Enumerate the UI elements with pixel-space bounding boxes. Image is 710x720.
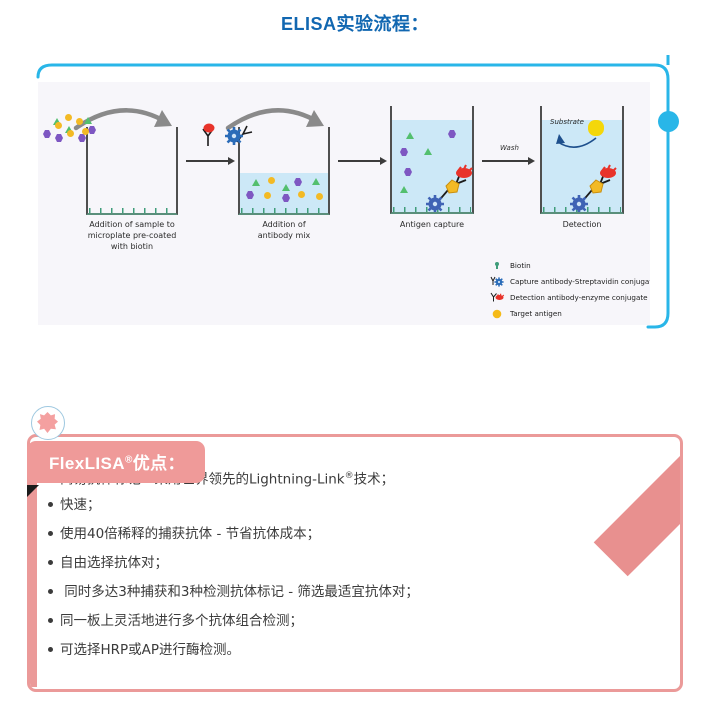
capture-antibody-streptavidin-icon [490, 276, 505, 289]
legend-item-target-antigen: Target antigen [486, 306, 650, 322]
page-title: ELISA实验流程： [0, 10, 710, 36]
bullet-dot-icon [48, 560, 53, 565]
list-item: 同时多达3种捕获和3种检测抗体标记 - 筛选最适宜抗体对； [48, 578, 648, 607]
step-1-line-1: Addition of sample to [66, 220, 198, 231]
bullet-text-pre: 自由选择抗体对； [60, 555, 168, 571]
corner-stripe-decoration-2 [680, 434, 683, 583]
bullet-dot-icon [48, 531, 53, 536]
bullet-text-pre: 可选择HRP或AP进行酶检测。 [60, 642, 240, 658]
bullet-dot-icon [48, 647, 53, 652]
well-label-step-2: Addition of antibody mix [228, 220, 340, 242]
flexlisa-benefits-tag: FlexLISA®优点： [27, 441, 205, 483]
tag-tail-shadow [27, 485, 39, 497]
left-accent-bar [30, 465, 37, 687]
bullet-text-pre: 快速； [60, 497, 101, 513]
biotin-icon [490, 260, 505, 273]
legend-label: Target antigen [510, 306, 562, 322]
list-item: 可选择HRP或AP进行酶检测。 [48, 636, 648, 665]
target-antigen-icon [490, 308, 505, 321]
well-label-step-3: Antigen capture [382, 220, 482, 231]
bullet-text-pre: 使用40倍稀释的捕获抗体 - 节省抗体成本； [60, 526, 320, 542]
arrow-1-2-head-icon [228, 157, 235, 165]
flower-blob-icon [37, 412, 58, 433]
well-step-4: Substrate [540, 106, 624, 214]
legend-item-detection-antibody: Detection antibody-enzyme conjugate [486, 290, 650, 306]
well-step-3 [390, 106, 474, 214]
well-step-1 [86, 127, 178, 215]
detection-antibody-enzyme-icon [490, 292, 505, 305]
arrow-2-3-head-icon [380, 157, 387, 165]
elisa-workflow-diagram: Addition of sample to microplate pre-coa… [38, 82, 650, 325]
antibody-sandwich-complex-icon [566, 160, 620, 212]
step-2-line-2: antibody mix [228, 231, 340, 242]
step-3-line-1: Antigen capture [382, 220, 482, 231]
list-item: 自由选择抗体对； [48, 549, 648, 578]
well-label-step-4: Detection [532, 220, 632, 231]
wash-label: Wash [500, 144, 519, 152]
biotin-coating [89, 208, 175, 213]
tag-registered-mark: ® [125, 454, 133, 465]
legend-label: Detection antibody-enzyme conjugate [510, 290, 648, 306]
step-4-line-1: Detection [532, 220, 632, 231]
bullet-superscript: ® [345, 471, 354, 481]
legend-label: Capture antibody-Streptavidin conjugate [510, 274, 650, 290]
list-item: 同一板上灵活地进行多个抗体组合检测； [48, 607, 648, 636]
list-item: 使用40倍稀释的捕获抗体 - 节省抗体成本； [48, 520, 648, 549]
step-2-line-1: Addition of [228, 220, 340, 231]
bullet-text-pre: 同一板上灵活地进行多个抗体组合检测； [60, 613, 303, 629]
arrow-3-4 [482, 160, 530, 162]
benefits-bullet-list: 简易抗体标记 - 采用世界领先的Lightning-Link®技术； 快速； 使… [48, 462, 648, 665]
tag-text-pre: FlexLISA [49, 454, 125, 473]
flower-badge [31, 406, 65, 440]
substrate-dot-icon [588, 120, 604, 136]
arrow-2-3 [338, 160, 382, 162]
bullet-text-pre: 同时多达3种捕获和3种检测抗体标记 - 筛选最适宜抗体对； [60, 584, 419, 600]
diagram-legend: Biotin Capture antibody-Streptavidin con… [486, 258, 650, 322]
list-item: 快速； [48, 491, 648, 520]
bullet-dot-icon [48, 618, 53, 623]
tag-text-post: 优点： [133, 454, 185, 473]
legend-label: Biotin [510, 258, 531, 274]
step-1-line-3: with biotin [66, 242, 198, 253]
arrow-3-4-head-icon [528, 157, 535, 165]
antibody-pair-icon [200, 120, 262, 154]
bullet-dot-icon [48, 589, 53, 594]
step-1-line-2: microplate pre-coated [66, 231, 198, 242]
well-walls [86, 127, 178, 215]
legend-item-capture-antibody: Capture antibody-Streptavidin conjugate [486, 274, 650, 290]
biotin-coating [241, 208, 327, 213]
bullet-text-post: 技术； [354, 472, 395, 488]
well-label-step-1: Addition of sample to microplate pre-coa… [66, 220, 198, 252]
legend-item-biotin: Biotin [486, 258, 650, 274]
frame-dot-icon [658, 111, 679, 132]
substrate-arrow-icon [554, 124, 614, 156]
bullet-dot-icon [48, 502, 53, 507]
antibody-sandwich-complex-icon [422, 160, 476, 212]
arrow-1-2 [186, 160, 230, 162]
